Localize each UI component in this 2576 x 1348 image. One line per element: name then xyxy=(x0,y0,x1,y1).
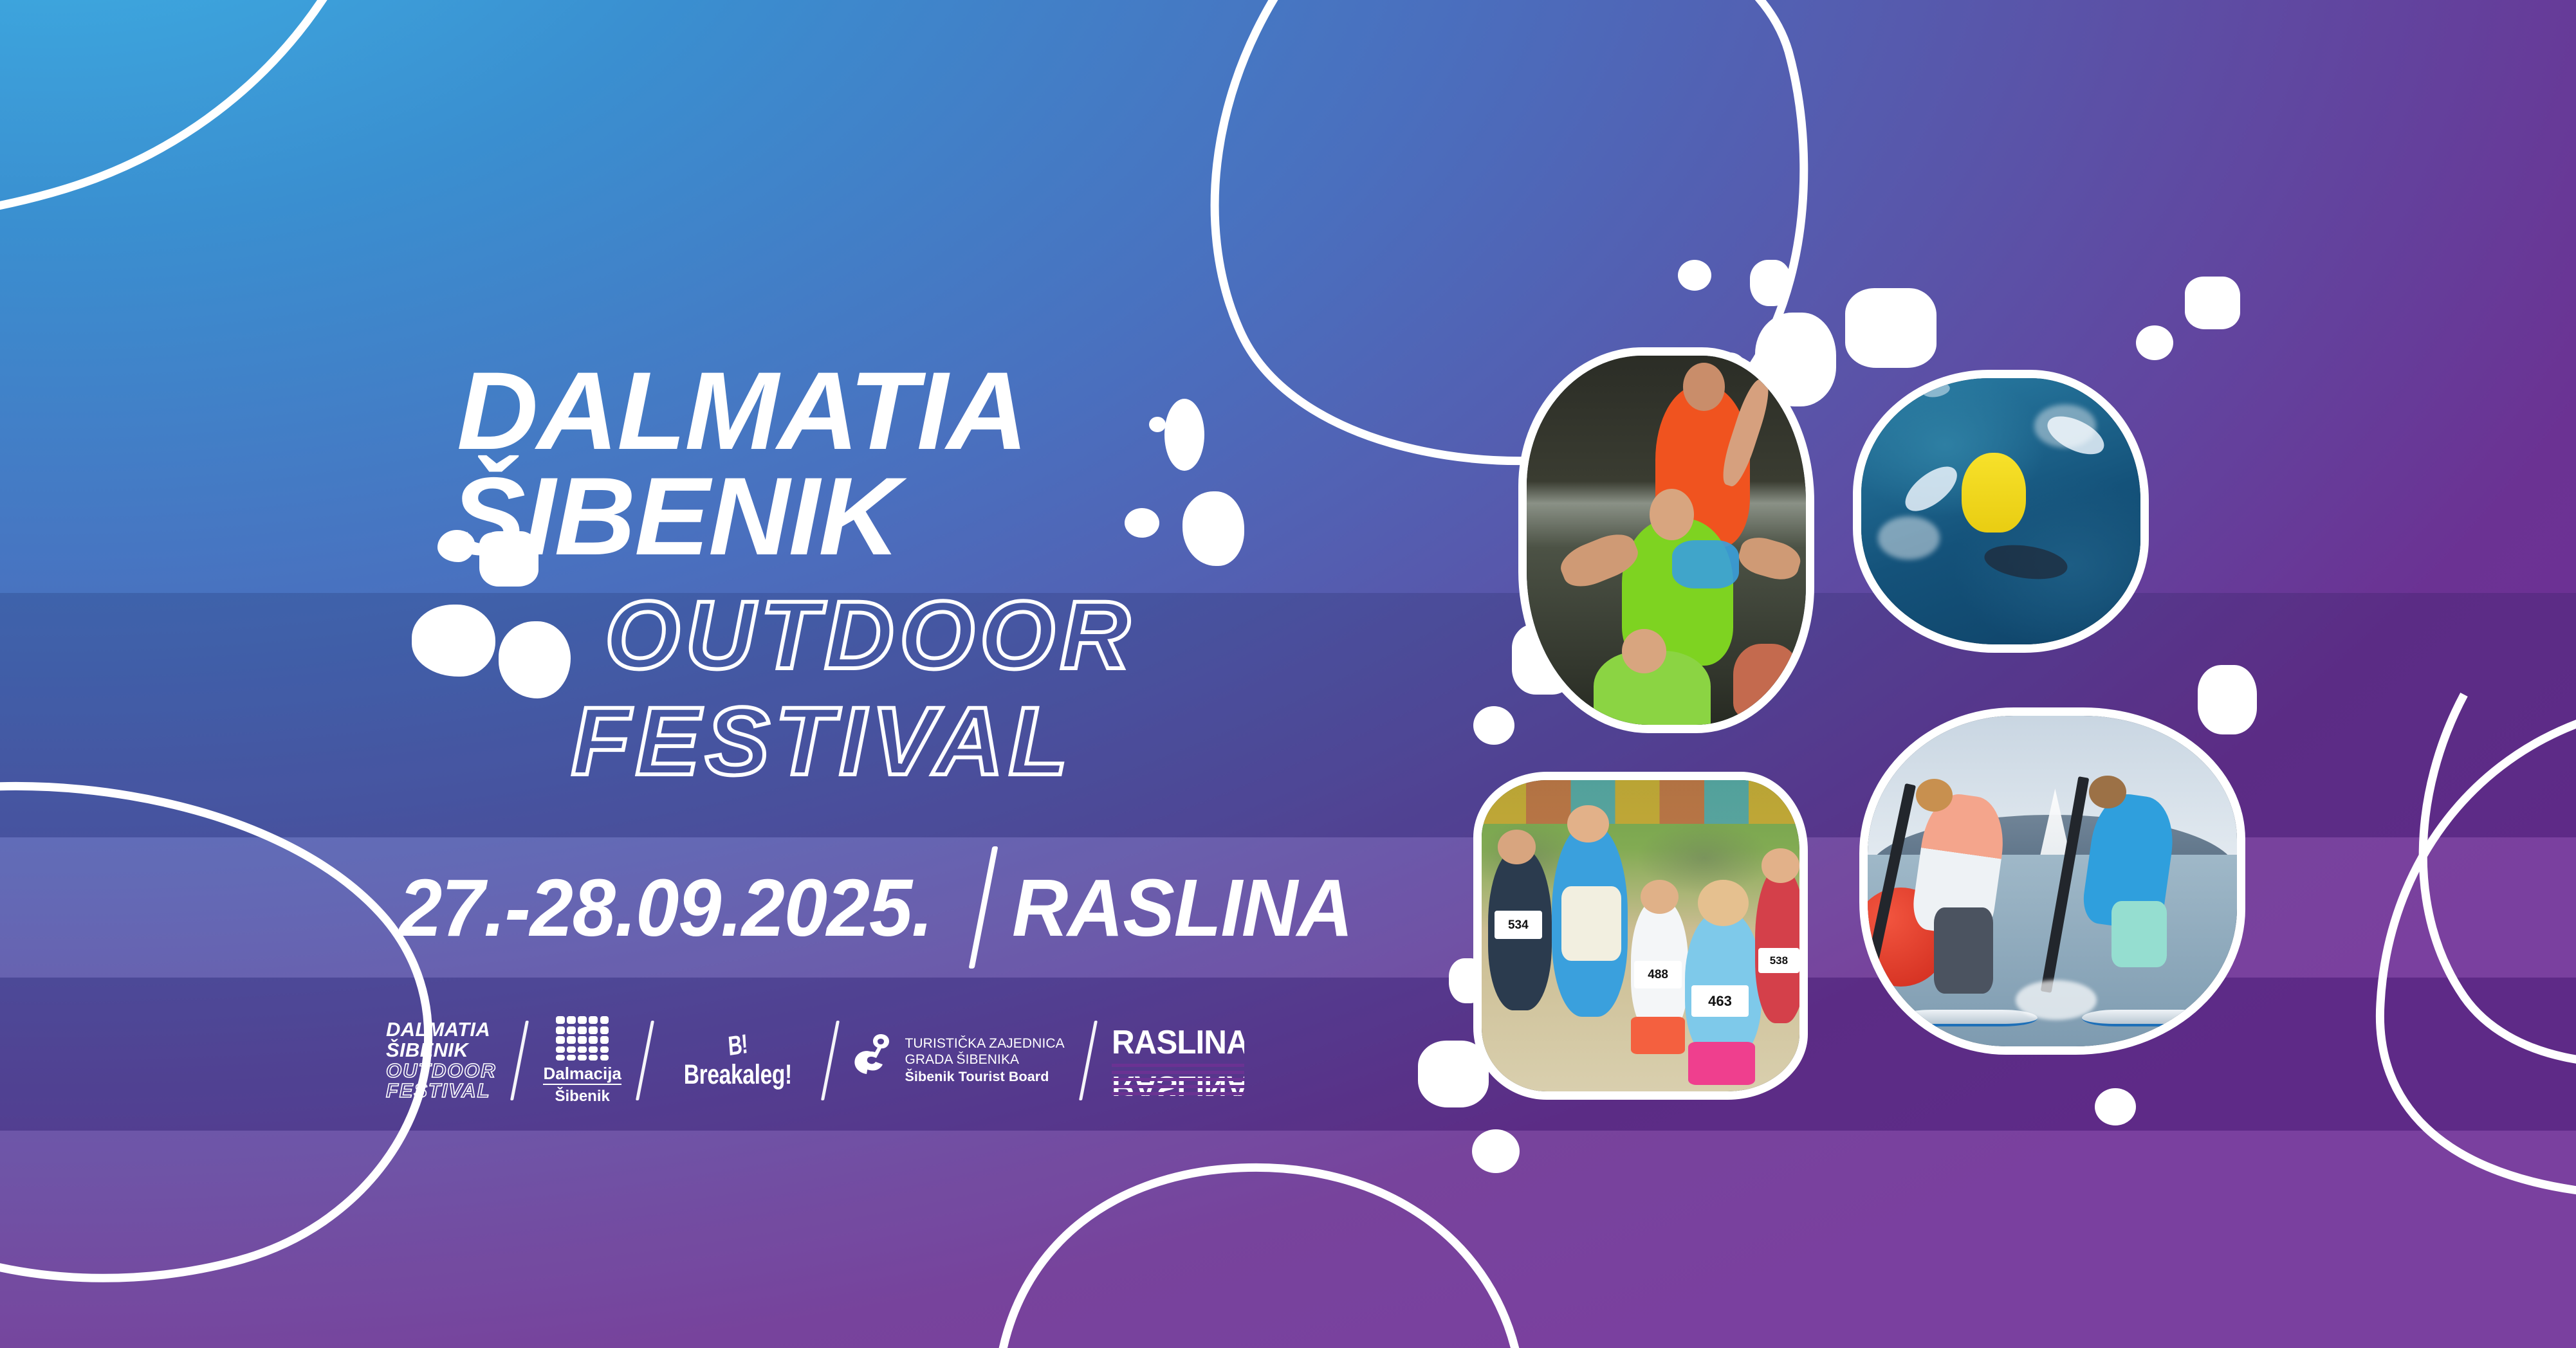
mini-logo-line-4: FESTIVAL xyxy=(386,1080,496,1101)
event-date: 27.-28.09.2025. xyxy=(399,861,932,954)
sponsor-breakaleg[interactable]: B! Breakaleg! xyxy=(668,1032,807,1089)
brand-line-outdoor: OUTDOOR xyxy=(605,589,1454,681)
tourist-board-line-3: Šibenik Tourist Board xyxy=(905,1068,1064,1085)
blob-decor xyxy=(1472,1129,1520,1173)
race-bib: 534 xyxy=(1495,911,1542,939)
race-bib: 538 xyxy=(1758,948,1799,973)
outline-shape-bottom-center xyxy=(978,1151,1531,1348)
sponsor-separator xyxy=(510,1021,529,1100)
tourist-board-line-2: GRADA ŠIBENIKA xyxy=(905,1052,1064,1068)
festival-banner: DALMATIA ŠIBENIK OUTDOOR FESTIVAL 27.-28… xyxy=(0,0,2576,1348)
outline-shape-right-edge xyxy=(2419,695,2576,1055)
blob-decor xyxy=(1750,260,1791,306)
brand-line-dalmatia: DALMATIA xyxy=(457,360,1474,462)
raslina-stripe-overlay xyxy=(1112,1060,1244,1096)
photo-collage: 534 488 463 538 xyxy=(1467,347,2303,1119)
photo-open-water-swimming[interactable] xyxy=(1853,370,2149,653)
photo-celebrating-runners[interactable] xyxy=(1518,347,1814,733)
sponsor-separator xyxy=(1079,1021,1098,1100)
photo-sup-racing[interactable] xyxy=(1859,707,2245,1055)
divider-slash xyxy=(968,846,998,969)
anchor-s-icon xyxy=(854,1032,894,1089)
sponsor-separator xyxy=(821,1021,840,1100)
blob-decor xyxy=(2185,277,2240,329)
race-bib: 463 xyxy=(1691,985,1749,1016)
mini-logo-line-1: DALMATIA xyxy=(386,1019,496,1040)
event-details: 27.-28.09.2025. RASLINA xyxy=(399,846,1366,969)
sponsor-separator xyxy=(636,1021,654,1100)
title-block: DALMATIA ŠIBENIK OUTDOOR FESTIVAL xyxy=(450,360,1454,787)
event-location: RASLINA xyxy=(1012,861,1352,954)
brand-line-sibenik: ŠIBENIK xyxy=(450,466,1474,567)
dalmacija-label: Dalmacija xyxy=(543,1065,621,1085)
mini-logo-line-2: ŠIBENIK xyxy=(386,1040,496,1061)
sponsor-sibenik-tourist-board[interactable]: TURISTIČKA ZAJEDNICA GRADA ŠIBENIKA Šibe… xyxy=(854,1032,1064,1089)
photo-family-race[interactable]: 534 488 463 538 xyxy=(1473,772,1808,1100)
background-band-4 xyxy=(0,1131,2576,1348)
race-bib: 488 xyxy=(1634,961,1682,989)
brick-wall-icon xyxy=(556,1016,609,1061)
tourist-board-line-1: TURISTIČKA ZAJEDNICA xyxy=(905,1035,1064,1052)
outline-shape-top-left xyxy=(0,0,502,476)
raslina-label: RASLINA xyxy=(1112,1029,1244,1057)
breakaleg-label: Breakaleg! xyxy=(684,1061,792,1089)
marker-buoy xyxy=(1962,453,2026,533)
mini-logo-line-3: OUTDOOR xyxy=(386,1061,496,1081)
sponsor-raslina[interactable]: RASLINA RASLINA xyxy=(1112,1025,1244,1096)
sibenik-label: Šibenik xyxy=(555,1089,609,1104)
brand-line-festival: FESTIVAL xyxy=(571,695,1454,787)
blob-decor xyxy=(1678,260,1711,291)
sponsor-strip: DALMATIA ŠIBENIK OUTDOOR FESTIVAL Dalmac… xyxy=(386,1016,1244,1104)
sponsor-dalmacija-sibenik[interactable]: Dalmacija Šibenik xyxy=(543,1016,621,1104)
breakaleg-mark-icon: B! xyxy=(727,1030,748,1060)
sponsor-festival[interactable]: DALMATIA ŠIBENIK OUTDOOR FESTIVAL xyxy=(386,1019,496,1100)
